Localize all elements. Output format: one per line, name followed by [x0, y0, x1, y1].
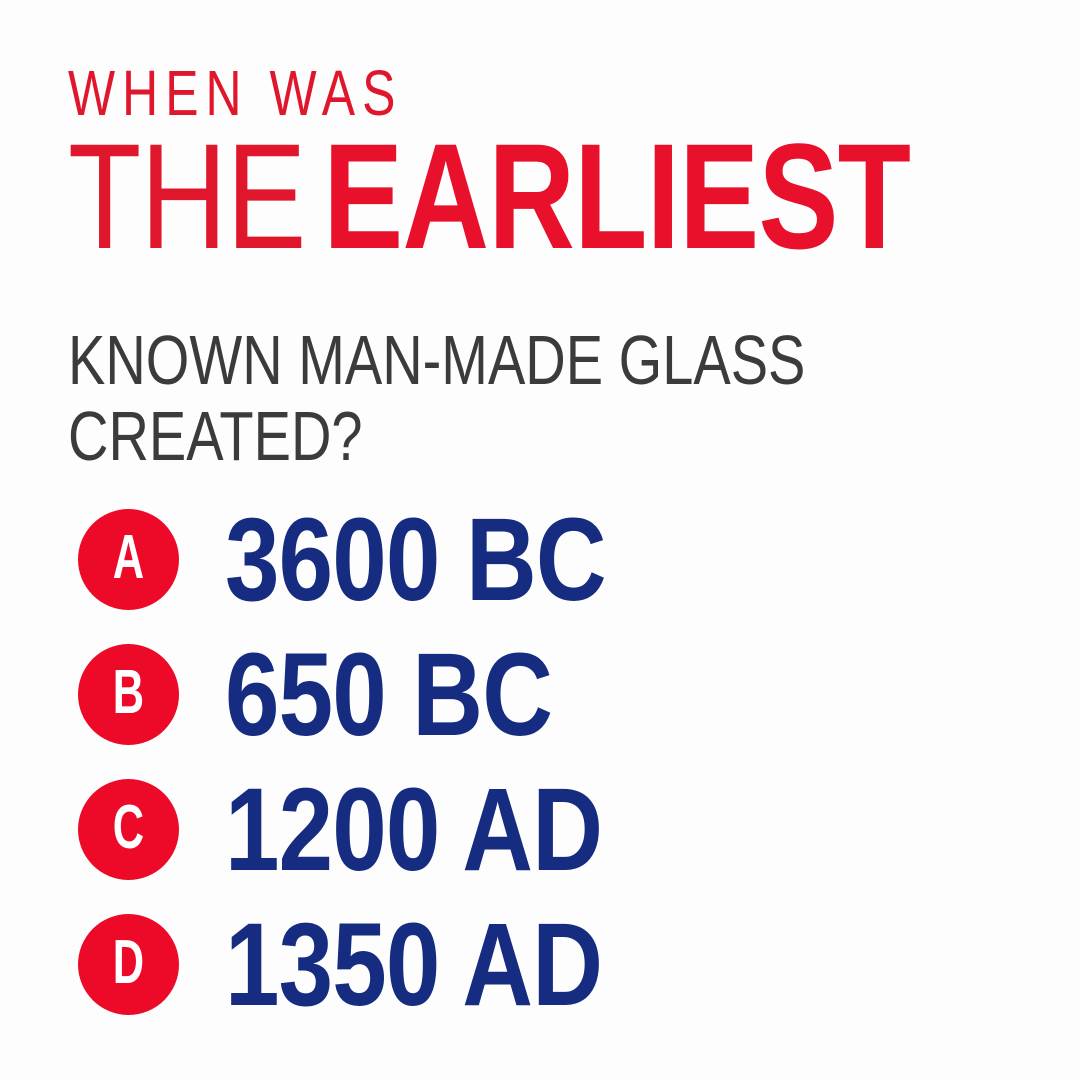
- option-letter-a: A: [113, 527, 144, 589]
- option-letter-d: D: [113, 932, 144, 994]
- option-text-b[interactable]: 650 BC: [225, 641, 552, 749]
- question-tail-line-1: KNOWN MAN-MADE GLASS: [68, 322, 828, 398]
- option-badge-a[interactable]: A: [78, 509, 179, 610]
- answer-option-c[interactable]: C 1200 AD: [78, 762, 978, 897]
- answer-options-list: A 3600 BC B 650 BC C 1200 AD D 1350 AD: [78, 492, 978, 1032]
- question-headline-emphasis: EARLIEST: [323, 112, 910, 280]
- option-letter-b: B: [113, 662, 144, 724]
- answer-option-b[interactable]: B 650 BC: [78, 627, 978, 762]
- option-text-c[interactable]: 1200 AD: [225, 776, 602, 884]
- option-letter-c: C: [113, 797, 144, 859]
- question-headline: THEEARLIEST: [68, 132, 828, 308]
- quiz-card: WHEN WAS THEEARLIEST KNOWN MAN-MADE GLAS…: [0, 0, 1080, 1080]
- option-text-a[interactable]: 3600 BC: [225, 506, 606, 614]
- option-badge-b[interactable]: B: [78, 644, 179, 745]
- answer-option-d[interactable]: D 1350 AD: [78, 897, 978, 1032]
- option-text-d[interactable]: 1350 AD: [225, 911, 602, 1019]
- question-tail-line-2: CREATED?: [68, 398, 828, 474]
- answer-option-a[interactable]: A 3600 BC: [78, 492, 978, 627]
- option-badge-c[interactable]: C: [78, 779, 179, 880]
- option-badge-d[interactable]: D: [78, 914, 179, 1015]
- question-headline-prefix: THE: [68, 112, 306, 280]
- question-block: WHEN WAS THEEARLIEST KNOWN MAN-MADE GLAS…: [68, 58, 1018, 474]
